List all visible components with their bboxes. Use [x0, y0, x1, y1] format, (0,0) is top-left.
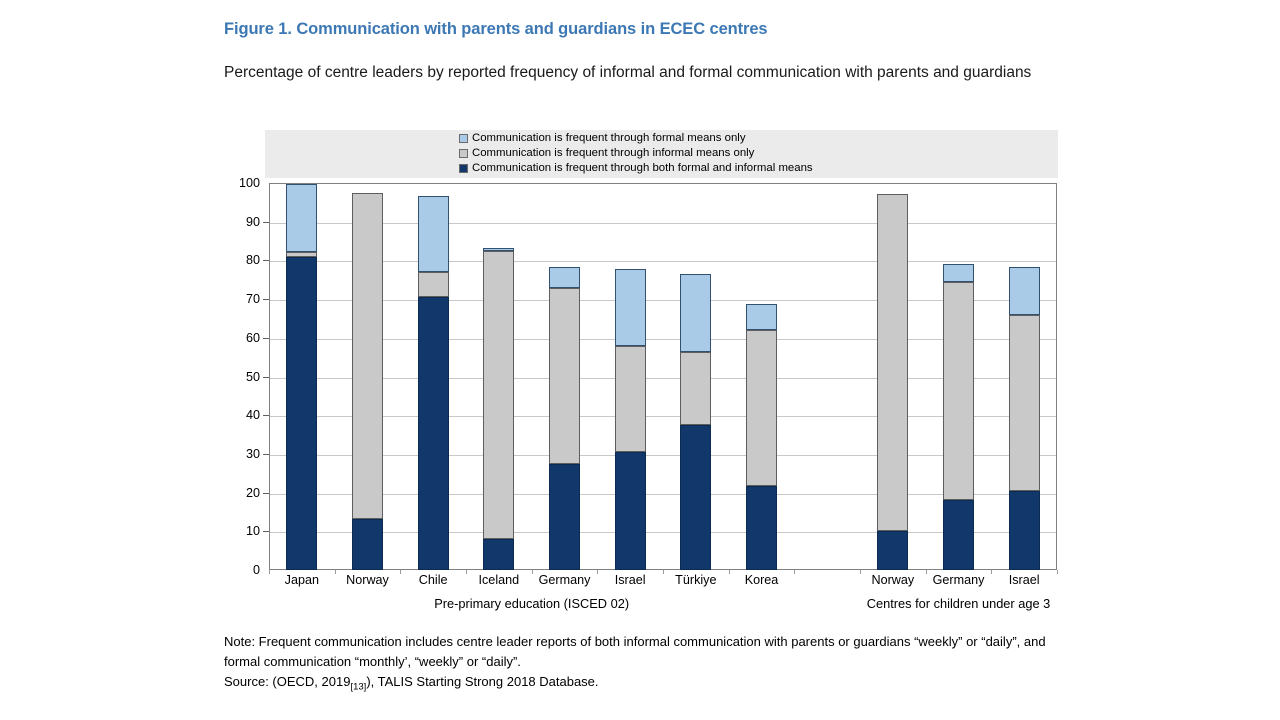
- figure-title: Figure 1. Communication with parents and…: [224, 20, 1084, 40]
- x-axis-tick: [1057, 570, 1058, 574]
- bar-segment-formal-only[interactable]: [680, 274, 711, 352]
- bar-segment-both[interactable]: [615, 452, 646, 570]
- bar-segment-formal-only[interactable]: [483, 248, 514, 251]
- x-axis-label: Israel: [615, 573, 646, 587]
- bar-japan[interactable]: [286, 183, 317, 570]
- source-line: Source: (OECD, 2019[13]), TALIS Starting…: [224, 672, 1104, 695]
- x-axis-label: Japan: [285, 573, 319, 587]
- x-axis-label: Germany: [539, 573, 591, 587]
- x-axis-group-labels: Pre-primary education (ISCED 02)Centres …: [269, 596, 1057, 618]
- legend-label-both: Communication is frequent through both f…: [472, 163, 813, 174]
- bar-israel[interactable]: [615, 183, 646, 570]
- source-prefix: Source: (OECD, 2019: [224, 674, 350, 689]
- bar-segment-formal-only[interactable]: [418, 196, 449, 272]
- bar-segment-informal-only[interactable]: [549, 288, 580, 464]
- bar-korea[interactable]: [746, 183, 777, 570]
- bar-segment-informal-only[interactable]: [418, 272, 449, 297]
- bar-segment-both[interactable]: [286, 257, 317, 570]
- x-axis-label: Chile: [419, 573, 448, 587]
- x-axis-label: Norway: [871, 573, 914, 587]
- x-axis-tick: [663, 570, 664, 574]
- bar-iceland[interactable]: [483, 183, 514, 570]
- figure-container: Figure 1. Communication with parents and…: [0, 0, 1280, 720]
- bar-segment-both[interactable]: [1009, 491, 1040, 570]
- bar-segment-formal-only[interactable]: [549, 267, 580, 287]
- bar-chile[interactable]: [418, 183, 449, 570]
- note-line-2: formal communication “monthly’, “weekly”…: [224, 652, 1104, 672]
- y-axis-tick-label: 10: [246, 524, 260, 538]
- y-axis-tick-label: 60: [246, 331, 260, 345]
- y-axis-tick-label: 90: [246, 215, 260, 229]
- note-line-1: Note: Frequent communication includes ce…: [224, 632, 1104, 652]
- bar-segment-both[interactable]: [746, 486, 777, 570]
- figure-notes: Note: Frequent communication includes ce…: [224, 632, 1104, 695]
- y-axis: 0102030405060708090100: [224, 183, 269, 570]
- legend-item-both[interactable]: Communication is frequent through both f…: [459, 161, 1019, 176]
- x-axis-label: Norway: [346, 573, 389, 587]
- bar-segment-both[interactable]: [549, 464, 580, 570]
- bar-türkiye[interactable]: [680, 183, 711, 570]
- source-reference: [13]: [350, 681, 366, 692]
- chart: Communication is frequent through formal…: [224, 128, 1060, 618]
- bar-segment-both[interactable]: [352, 519, 383, 570]
- bar-segment-informal-only[interactable]: [746, 330, 777, 486]
- y-axis-tick-label: 30: [246, 447, 260, 461]
- bar-segment-both[interactable]: [483, 539, 514, 570]
- x-axis-label: Israel: [1009, 573, 1040, 587]
- bars-layer: [269, 183, 1057, 570]
- bar-segment-formal-only[interactable]: [1009, 267, 1040, 315]
- y-axis-tick-label: 20: [246, 486, 260, 500]
- x-axis-label: Korea: [745, 573, 779, 587]
- legend-swatch-both-icon: [459, 164, 468, 173]
- bar-segment-formal-only[interactable]: [286, 184, 317, 251]
- bar-norway[interactable]: [877, 183, 908, 570]
- x-axis-label: Iceland: [479, 573, 520, 587]
- x-axis-tick: [597, 570, 598, 574]
- x-axis-labels: JapanNorwayChileIcelandGermanyIsraelTürk…: [269, 573, 1057, 595]
- source-suffix: ), TALIS Starting Strong 2018 Database.: [366, 674, 598, 689]
- legend-item-informal-only[interactable]: Communication is frequent through inform…: [459, 146, 1019, 161]
- y-axis-tick-label: 0: [253, 563, 260, 577]
- x-axis-tick: [532, 570, 533, 574]
- bar-segment-informal-only[interactable]: [877, 194, 908, 531]
- x-axis-label: Germany: [933, 573, 985, 587]
- bar-segment-informal-only[interactable]: [943, 282, 974, 500]
- bar-germany[interactable]: [943, 183, 974, 570]
- x-axis-label: Türkiye: [675, 573, 716, 587]
- y-axis-tick-label: 50: [246, 370, 260, 384]
- y-axis-tick-label: 100: [239, 176, 260, 190]
- bar-segment-informal-only[interactable]: [286, 252, 317, 257]
- bar-segment-informal-only[interactable]: [680, 352, 711, 425]
- bar-segment-both[interactable]: [680, 425, 711, 570]
- bar-segment-informal-only[interactable]: [1009, 315, 1040, 491]
- x-axis-group-label: Centres for children under age 3: [867, 596, 1051, 611]
- legend-swatch-formal-only-icon: [459, 134, 468, 143]
- x-axis-tick: [794, 570, 795, 574]
- x-axis-tick: [860, 570, 861, 574]
- legend-label-informal-only: Communication is frequent through inform…: [472, 148, 754, 159]
- bar-segment-informal-only[interactable]: [352, 193, 383, 518]
- bar-segment-informal-only[interactable]: [615, 346, 646, 452]
- x-axis-group-label: Pre-primary education (ISCED 02): [434, 596, 629, 611]
- bar-segment-both[interactable]: [877, 531, 908, 570]
- y-axis-tick-label: 70: [246, 292, 260, 306]
- x-axis-tick: [926, 570, 927, 574]
- bar-segment-formal-only[interactable]: [746, 304, 777, 330]
- x-axis-tick: [466, 570, 467, 574]
- bar-israel[interactable]: [1009, 183, 1040, 570]
- bar-segment-informal-only[interactable]: [483, 251, 514, 539]
- bar-segment-both[interactable]: [943, 500, 974, 570]
- legend-item-formal-only[interactable]: Communication is frequent through formal…: [459, 131, 1019, 146]
- bar-germany[interactable]: [549, 183, 580, 570]
- x-axis-tick: [335, 570, 336, 574]
- bar-segment-both[interactable]: [418, 297, 449, 570]
- legend-swatch-informal-only-icon: [459, 149, 468, 158]
- figure-subtitle: Percentage of centre leaders by reported…: [224, 62, 1054, 84]
- chart-legend: Communication is frequent through formal…: [459, 131, 1019, 176]
- y-axis-tick-label: 40: [246, 408, 260, 422]
- x-axis-tick: [729, 570, 730, 574]
- bar-norway[interactable]: [352, 183, 383, 570]
- x-axis-tick: [991, 570, 992, 574]
- legend-label-formal-only: Communication is frequent through formal…: [472, 133, 746, 144]
- x-axis-tick: [400, 570, 401, 574]
- bar-segment-formal-only[interactable]: [943, 264, 974, 282]
- bar-segment-formal-only[interactable]: [615, 269, 646, 345]
- y-axis-tick-label: 80: [246, 253, 260, 267]
- x-axis-tick: [269, 570, 270, 574]
